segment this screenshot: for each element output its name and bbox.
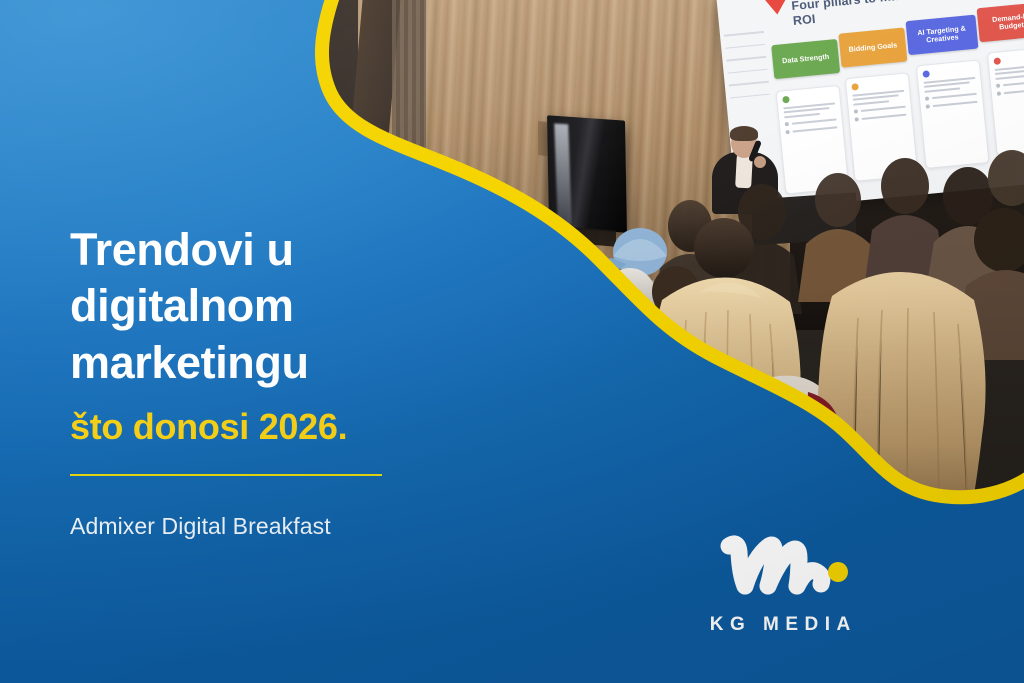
divider-rule [70, 474, 382, 476]
promo-banner: Four pillars to maximize your ROI Data S… [0, 0, 1024, 683]
event-subtitle: Admixer Digital Breakfast [70, 513, 400, 540]
logo-yellow-dot [828, 562, 848, 582]
headline-line-1: Trendovi u [70, 222, 400, 278]
page-title: Trendovi u digitalnom marketingu [70, 222, 400, 391]
brand-logo: KG MEDIA [680, 528, 880, 636]
copy-block: Trendovi u digitalnom marketingu što don… [70, 222, 400, 563]
logo-wordmark: KG MEDIA [703, 614, 857, 636]
headline-line-3: marketingu [70, 335, 400, 391]
headline-accent-line: što donosi 2026. [70, 405, 400, 448]
headline-line-2: digitalnom [70, 278, 400, 334]
kg-media-brushstroke-icon [705, 528, 855, 610]
